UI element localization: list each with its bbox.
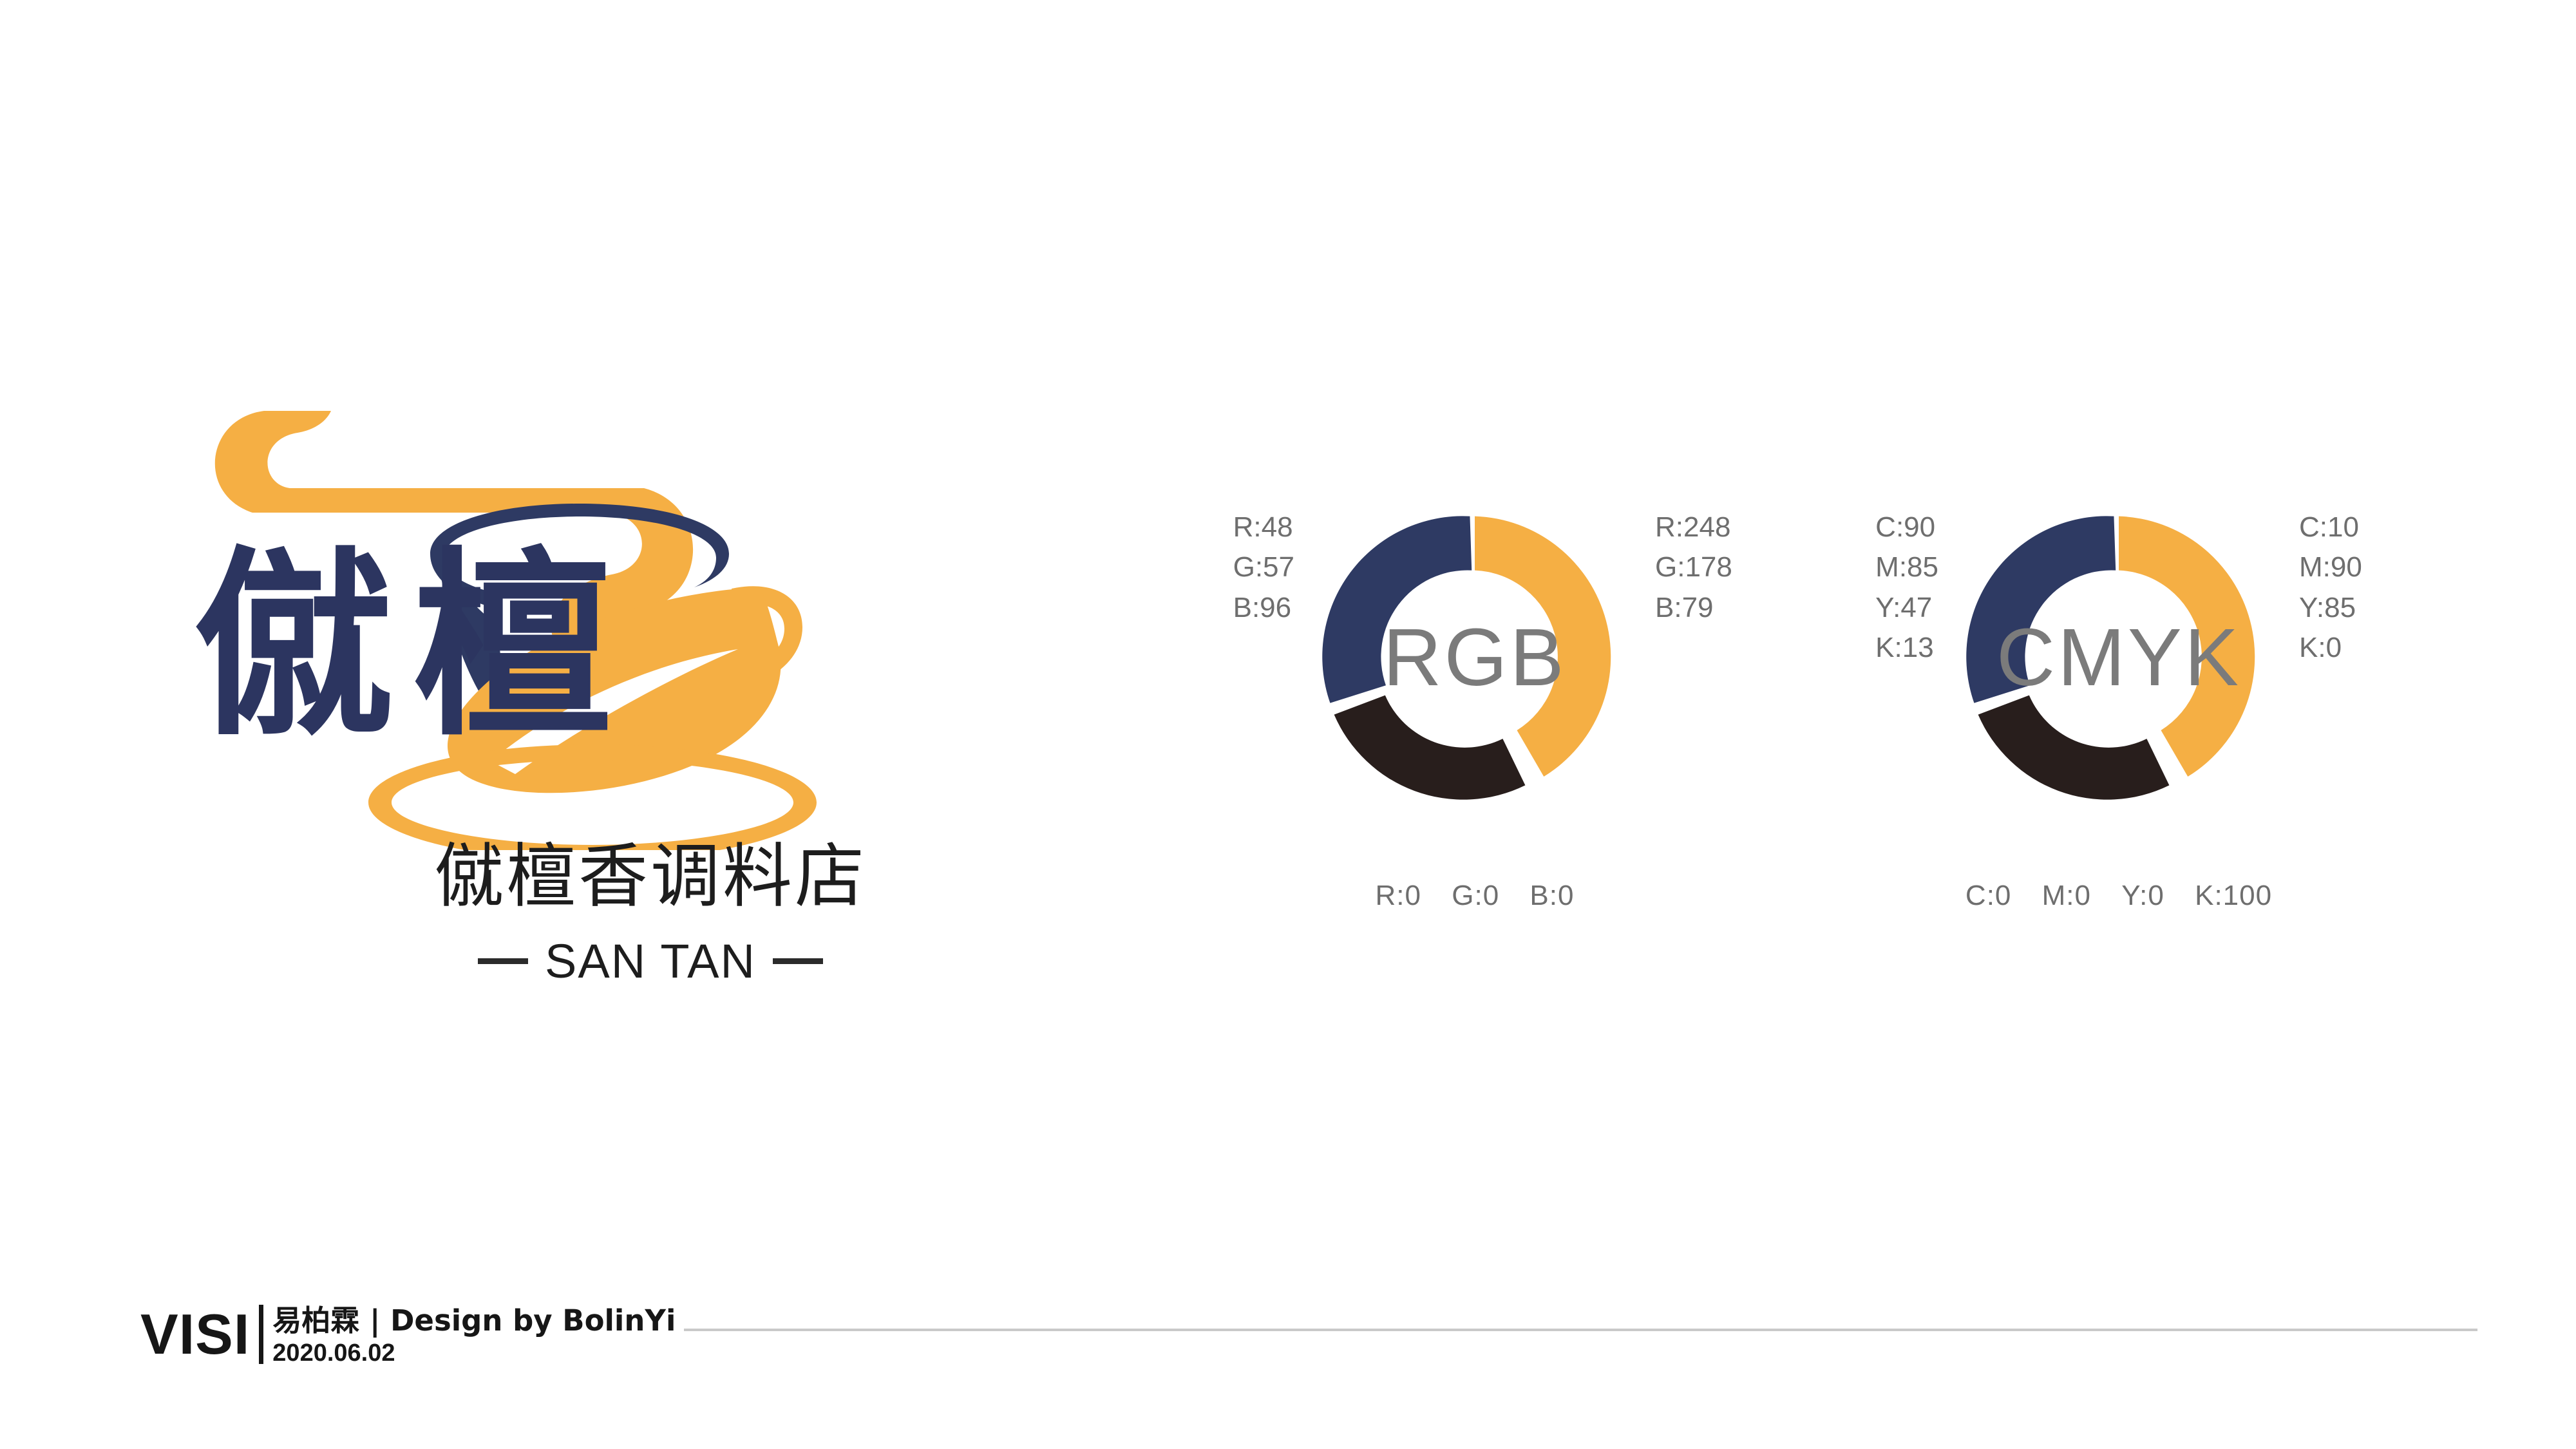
footer-credit: VISI 易柏霖 | Design by BolinYi 2020.06.02 xyxy=(140,1301,676,1368)
rgb-donut-svg xyxy=(1294,477,1655,837)
cmyk-label-black: C:0 M:0 Y:0 K:100 xyxy=(1777,876,2460,916)
cmyk-donut-ring xyxy=(1938,477,2299,837)
cmyk-label-orange: C:10 M:90 Y:85 K:0 xyxy=(2299,507,2362,668)
rgb-label-black: R:0 G:0 B:0 xyxy=(1133,876,1816,916)
tagline-english-row: SAN TAN xyxy=(193,934,1108,989)
cmyk-orange-y: Y:85 xyxy=(2299,588,2362,628)
rgb-orange-b: B:79 xyxy=(1655,588,1732,628)
cmyk-navy-k: K:13 xyxy=(1875,628,1938,668)
cmyk-orange-m: M:90 xyxy=(2299,547,2362,587)
rgb-navy-r: R:48 xyxy=(1233,507,1294,547)
cmyk-arc-black xyxy=(1978,696,2170,800)
rgb-black-g: G:0 xyxy=(1452,880,1499,911)
cmyk-navy-y: Y:47 xyxy=(1875,588,1938,628)
cmyk-black-c: C:0 xyxy=(1965,880,2011,911)
footer-designer-credit: 易柏霖 | Design by BolinYi xyxy=(272,1303,676,1338)
cmyk-donut-svg xyxy=(1938,477,2299,837)
cmyk-black-k: K:100 xyxy=(2195,880,2272,911)
footer-divider xyxy=(684,1329,2477,1331)
rgb-arc-navy xyxy=(1322,516,1472,703)
footer-text-column: 易柏霖 | Design by BolinYi 2020.06.02 xyxy=(272,1301,676,1368)
rgb-donut-ring xyxy=(1294,477,1655,837)
rgb-black-r: R:0 xyxy=(1376,880,1421,911)
cmyk-label-navy: C:90 M:85 Y:47 K:13 xyxy=(1875,507,1938,668)
cmyk-black-y: Y:0 xyxy=(2121,880,2164,911)
cmyk-arc-navy xyxy=(1966,516,2116,703)
brand-logo-block: 僦檀 僦檀香调料店 SAN TAN xyxy=(193,361,1108,1043)
rgb-label-orange: R:248 G:178 B:79 xyxy=(1655,507,1732,628)
tagline-english: SAN TAN xyxy=(545,934,756,989)
rgb-orange-g: G:178 xyxy=(1655,547,1732,587)
rgb-navy-g: G:57 xyxy=(1233,547,1294,587)
logo-tagline: 僦檀香调料店 SAN TAN xyxy=(193,837,1108,989)
tagline-chinese: 僦檀香调料店 xyxy=(193,837,1108,917)
logo-wordmark: 僦檀 xyxy=(193,541,773,753)
rgb-arc-orange xyxy=(1475,516,1611,777)
rgb-label-navy: R:48 G:57 B:96 xyxy=(1233,507,1294,628)
rgb-navy-b: B:96 xyxy=(1233,588,1294,628)
cmyk-arc-orange xyxy=(2119,516,2255,777)
page-footer: VISI 易柏霖 | Design by BolinYi 2020.06.02 xyxy=(0,1301,2576,1397)
cmyk-color-chart: CMYK C:90 M:85 Y:47 K:13 C:10 M:90 Y:85 … xyxy=(1777,451,2460,992)
rgb-color-chart: RGB R:48 G:57 B:96 R:248 G:178 B:79 R:0 … xyxy=(1133,451,1816,992)
cmyk-black-m: M:0 xyxy=(2042,880,2091,911)
footer-separator-bar xyxy=(259,1305,263,1364)
footer-visi-label: VISI xyxy=(140,1301,250,1368)
tagline-rule-left xyxy=(478,958,528,964)
rgb-orange-r: R:248 xyxy=(1655,507,1732,547)
cmyk-orange-c: C:10 xyxy=(2299,507,2362,547)
footer-date: 2020.06.02 xyxy=(272,1338,676,1368)
rgb-black-b: B:0 xyxy=(1529,880,1574,911)
cmyk-orange-k: K:0 xyxy=(2299,628,2362,668)
rgb-arc-black xyxy=(1334,696,1526,800)
cmyk-navy-m: M:85 xyxy=(1875,547,1938,587)
cmyk-navy-c: C:90 xyxy=(1875,507,1938,547)
tagline-rule-right xyxy=(773,958,823,964)
